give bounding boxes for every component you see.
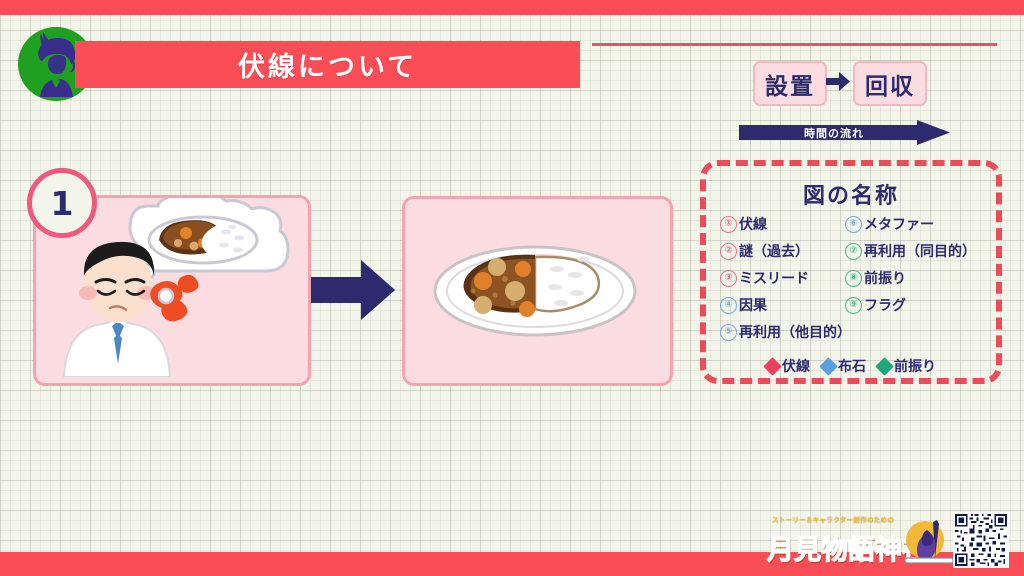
header-rule <box>592 43 997 46</box>
legend-box: 図の名称 ① 伏線 ② 謎（過去） ③ ミスリード ④ 因果 <box>700 160 1002 384</box>
list-item: ⑧ 前振り <box>845 268 994 288</box>
brand-name-main: 月見物語 <box>767 535 875 566</box>
legend-label: 再利用（他目的） <box>739 322 851 342</box>
legend-key: 伏線 <box>766 356 810 376</box>
legend-key: 布石 <box>822 356 866 376</box>
list-item: ④ 因果 <box>720 295 845 315</box>
legend-label: 謎（過去） <box>739 241 809 261</box>
legend-number: ⑤ <box>720 324 737 341</box>
list-item: ⑦ 再利用（同目的） <box>845 241 994 261</box>
diamond-icon <box>875 357 893 375</box>
diamond-icon <box>763 357 781 375</box>
page-title: 伏線について <box>75 41 580 88</box>
flow-recover-box: 回収 <box>853 61 927 106</box>
legend-number: ⑦ <box>845 243 862 260</box>
list-item: ③ ミスリード <box>720 268 845 288</box>
step-number-badge: 1 <box>27 168 97 238</box>
legend-column-right: ⑥ メタファー ⑦ 再利用（同目的） ⑧ 前振り ⑨ フラグ <box>845 214 994 342</box>
list-item: ② 謎（過去） <box>720 241 845 261</box>
legend-number: ③ <box>720 270 737 287</box>
qr-code[interactable] <box>953 512 1009 568</box>
legend-key-label: 布石 <box>838 356 866 376</box>
right-arrow-icon <box>826 72 850 91</box>
page-title-text: 伏線について <box>238 45 417 84</box>
legend-label: 前振り <box>864 268 906 288</box>
diamond-icon <box>819 357 837 375</box>
illustration-panel-right <box>402 196 673 386</box>
flow-setup-label: 設置 <box>765 67 815 101</box>
time-flow-label: 時間の流れ <box>739 120 929 145</box>
legend-key-label: 伏線 <box>782 356 810 376</box>
curry-rice-plate-illustration <box>405 199 664 377</box>
legend-label: メタファー <box>864 214 934 234</box>
flow-recover-label: 回収 <box>865 67 915 101</box>
top-accent-bar <box>0 0 1024 15</box>
list-item: ⑨ フラグ <box>845 295 994 315</box>
legend-number: ④ <box>720 297 737 314</box>
legend-title: 図の名称 <box>706 178 996 210</box>
legend-label: 因果 <box>739 295 767 315</box>
legend-key-row: 伏線 布石 前振り <box>706 356 996 376</box>
brand-logo: ストーリー＆キャラクター創作のための 月見物語神社 <box>763 512 948 568</box>
legend-columns: ① 伏線 ② 謎（過去） ③ ミスリード ④ 因果 ⑤ 再利用（他目的） <box>720 214 994 342</box>
legend-number: ① <box>720 216 737 233</box>
legend-label: 再利用（同目的） <box>864 241 976 261</box>
legend-label: ミスリード <box>739 268 809 288</box>
list-item: ⑤ 再利用（他目的） <box>720 322 845 342</box>
slide-root: 伏線について 設置 回収 時間の流れ 図の名称 ① 伏線 ② 謎 <box>0 0 1024 576</box>
flow-setup-box: 設置 <box>753 61 827 106</box>
step-number: 1 <box>51 184 74 223</box>
legend-number: ⑨ <box>845 297 862 314</box>
legend-number: ⑧ <box>845 270 862 287</box>
list-item: ① 伏線 <box>720 214 845 234</box>
legend-key-label: 前振り <box>894 356 936 376</box>
legend-key: 前振り <box>878 356 936 376</box>
torii-moon-icon <box>903 518 955 566</box>
big-right-arrow-icon <box>311 260 395 320</box>
legend-label: フラグ <box>864 295 906 315</box>
legend-label: 伏線 <box>739 214 767 234</box>
legend-number: ② <box>720 243 737 260</box>
legend-column-left: ① 伏線 ② 謎（過去） ③ ミスリード ④ 因果 ⑤ 再利用（他目的） <box>720 214 845 342</box>
legend-number: ⑥ <box>845 216 862 233</box>
brand-tagline: ストーリー＆キャラクター創作のための <box>772 514 912 524</box>
list-item: ⑥ メタファー <box>845 214 994 234</box>
